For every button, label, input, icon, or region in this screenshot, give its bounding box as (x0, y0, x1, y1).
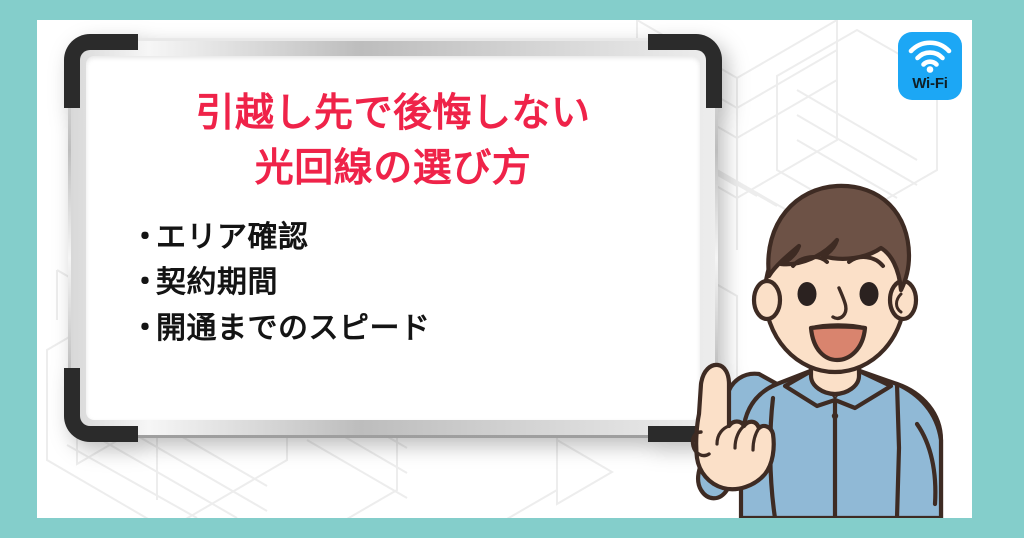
list-item: ・契約期間 (130, 260, 674, 306)
bullet-label: 開通までのスピード (156, 312, 431, 345)
bullet-label: エリア確認 (156, 221, 309, 254)
bullet-list: ・エリア確認 ・契約期間 ・開通までのスピード (112, 215, 674, 352)
bullet-marker: ・ (130, 306, 156, 352)
whiteboard-content: 引越し先で後悔しない 光回線の選び方 ・エリア確認 ・契約期間 ・開通までのスピ… (86, 56, 700, 420)
list-item: ・エリア確認 (130, 215, 674, 261)
wifi-badge: Wi-Fi (898, 32, 962, 100)
bullet-marker: ・ (130, 215, 156, 261)
list-item: ・開通までのスピード (130, 306, 674, 352)
man-pointing-up-illustration (645, 148, 985, 518)
board-title-line-1: 引越し先で後悔しない (112, 86, 674, 141)
board-title-line-2: 光回線の選び方 (112, 141, 674, 196)
whiteboard: 引越し先で後悔しない 光回線の選び方 ・エリア確認 ・契約期間 ・開通までのスピ… (68, 38, 718, 438)
bullet-marker: ・ (130, 260, 156, 306)
slide-canvas: 引越し先で後悔しない 光回線の選び方 ・エリア確認 ・契約期間 ・開通までのスピ… (0, 0, 1024, 538)
wifi-icon (907, 39, 953, 73)
board-title: 引越し先で後悔しない 光回線の選び方 (112, 86, 674, 197)
wifi-badge-label: Wi-Fi (912, 75, 948, 92)
bullet-label: 契約期間 (156, 266, 278, 299)
